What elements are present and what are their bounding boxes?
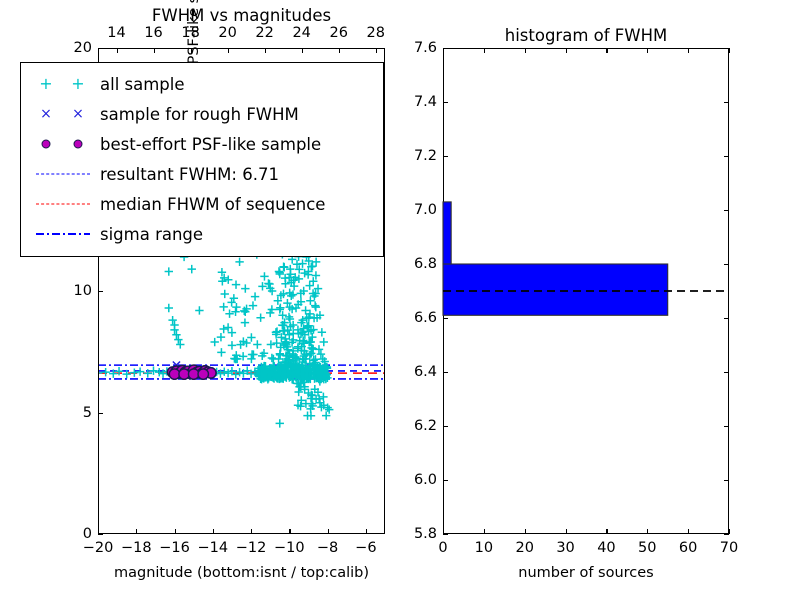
legend-item-label: best-effort PSF-like sample xyxy=(100,135,321,154)
legend-item: ++all sample xyxy=(30,69,374,99)
legend-item: ××sample for rough FWHM xyxy=(30,99,374,129)
legend-item-label: median FHWM of sequence xyxy=(100,195,325,214)
cross-x-icon: × xyxy=(72,107,84,121)
filled-circle-icon xyxy=(74,140,83,149)
legend-item-label: resultant FWHM: 6.71 xyxy=(100,165,279,184)
cross-x-icon: ×× xyxy=(30,104,96,124)
legend-item: resultant FWHM: 6.71 xyxy=(30,159,374,189)
legend-item-label: sigma range xyxy=(100,225,203,244)
plus-icon: ++ xyxy=(30,74,96,94)
legend-item-label: sample for rough FWHM xyxy=(100,105,299,124)
histogram-bar xyxy=(443,264,668,315)
histogram-bar xyxy=(443,202,451,264)
dashed-line-icon xyxy=(30,164,96,184)
dashed-line-icon xyxy=(36,204,90,205)
cross-x-icon: × xyxy=(40,107,52,121)
legend-item: best-effort PSF-like sample xyxy=(30,129,374,159)
filled-circle-icon xyxy=(42,140,51,149)
dashed-line-icon xyxy=(30,194,96,214)
dash-dot-line-icon xyxy=(36,233,90,235)
filled-circle-icon xyxy=(30,134,96,154)
legend-item: median FHWM of sequence xyxy=(30,189,374,219)
dash-dot-line-icon xyxy=(30,224,96,244)
legend-item-label: all sample xyxy=(100,75,185,94)
figure-canvas: FWHM vs magnitudes 1416182022242628 −20−… xyxy=(0,0,800,600)
dashed-line-icon xyxy=(36,174,90,175)
plus-icon: + xyxy=(71,76,84,92)
legend-box: ++all sample××sample for rough FWHMbest-… xyxy=(20,62,384,257)
legend-item: sigma range xyxy=(30,219,374,249)
plus-icon: + xyxy=(39,76,52,92)
